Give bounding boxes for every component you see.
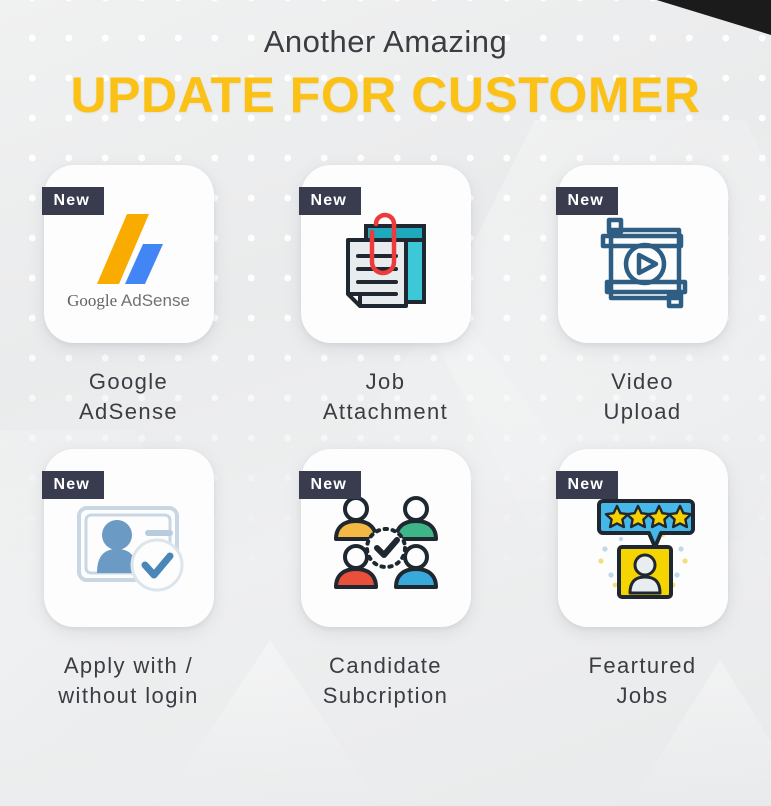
feature-cell-apply-login: New [0,449,257,711]
feature-card-featured-jobs[interactable]: New [558,449,728,627]
adsense-wordmark: Google AdSense [67,292,190,310]
star-rating-profile-icon [583,486,703,606]
feature-cell-video-upload: New [514,165,771,427]
feature-caption-job-attachment: Job Attachment [323,367,448,427]
new-badge: New [299,187,362,215]
poster-canvas: Another Amazing UPDATE FOR CUSTOMER New … [0,0,771,806]
video-frame-play-icon [583,202,703,322]
new-badge: New [556,471,619,499]
new-badge: New [42,187,105,215]
people-group-check-icon [326,486,446,606]
adsense-wordmark-adsense: AdSense [121,291,190,310]
feature-grid: New Google AdSense Google AdSense New [0,165,771,711]
id-card-check-icon [69,486,189,606]
adsense-wordmark-google: Google [67,291,117,310]
poster-header: Another Amazing UPDATE FOR CUSTOMER [0,0,771,126]
header-subtitle: Another Amazing [0,20,771,64]
feature-card-candidate-subscription[interactable]: New [301,449,471,627]
feature-caption-candidate-subscription: Candidate Subcription [323,651,448,711]
page-title: UPDATE FOR CUSTOMER [0,64,771,126]
feature-caption-featured-jobs: Feartured Jobs [589,651,697,711]
feature-card-google-adsense[interactable]: New Google AdSense [44,165,214,343]
new-badge: New [556,187,619,215]
feature-cell-job-attachment: New [257,165,514,427]
feature-card-video-upload[interactable]: New [558,165,728,343]
feature-cell-google-adsense: New Google AdSense Google AdSense [0,165,257,427]
document-paperclip-icon [326,202,446,322]
feature-caption-video-upload: Video Upload [603,367,681,427]
feature-card-apply-login[interactable]: New [44,449,214,627]
feature-cell-featured-jobs: New [514,449,771,711]
feature-card-job-attachment[interactable]: New [301,165,471,343]
google-adsense-logo-icon: Google AdSense [67,212,190,310]
new-badge: New [42,471,105,499]
feature-caption-google-adsense: Google AdSense [79,367,178,427]
new-badge: New [299,471,362,499]
feature-caption-apply-login: Apply with / without login [58,651,199,711]
feature-cell-candidate-subscription: New [257,449,514,711]
